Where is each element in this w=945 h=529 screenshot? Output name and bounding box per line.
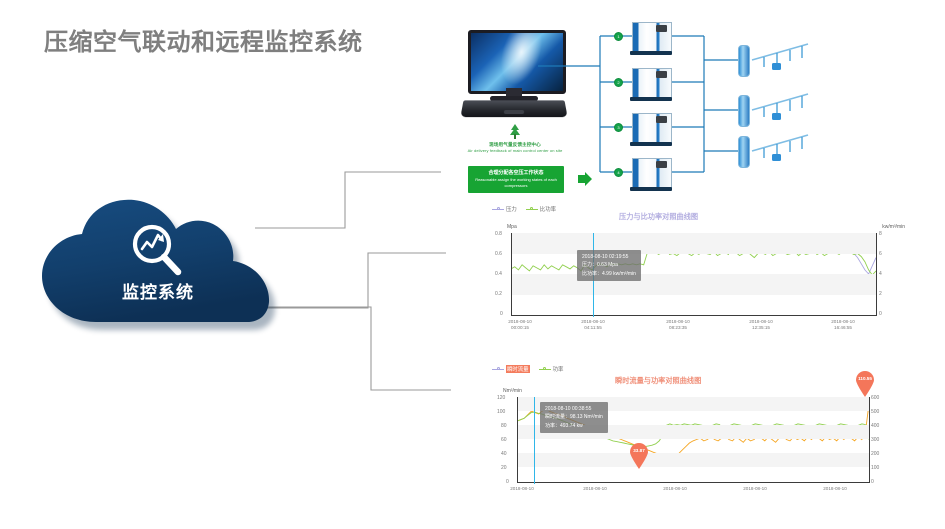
pressure-y-axis-unit: Mpa — [507, 224, 517, 230]
y-tick: 40 — [501, 451, 507, 457]
tooltip-power: 功率：493.74 kw — [545, 422, 603, 430]
page-title: 压缩空气联动和远程监控系统 — [44, 22, 363, 57]
legend-label: 瞬时流量 — [506, 365, 530, 373]
flow-chart-legend[interactable]: 瞬时流量 功率 — [492, 365, 563, 373]
pressure-chart-title: 压力与比功率对照曲线图 — [619, 212, 698, 222]
legend-marker-icon — [492, 367, 504, 372]
flow-chart-tooltip: 2018-08-10 00:38:55 瞬时流量：98.13 Nm³/min 功… — [540, 402, 608, 433]
x-tick: 2018-08-10 16:46:55 — [812, 319, 874, 331]
tooltip-specific-power: 比功率：4.99 kw/m³/min — [582, 270, 636, 278]
pressure-plot-area[interactable] — [511, 233, 876, 315]
cloud-monitoring-system[interactable]: 监控系统 — [38, 196, 288, 336]
pressure-chart-legend[interactable]: 压力 比功率 — [492, 205, 556, 213]
tooltip-time: 2018-08-10 00:38:55 — [545, 405, 603, 413]
distribution-line — [750, 125, 812, 167]
tooltip-instant-flow: 瞬时流量：98.13 Nm³/min — [545, 413, 603, 421]
flow-max-marker: 110.55 — [855, 371, 875, 397]
y-tick: 120 — [497, 395, 505, 401]
flow-min-marker: 33.87 — [629, 443, 649, 469]
compressor-unit — [632, 158, 670, 191]
y2-tick: 200 — [871, 451, 879, 457]
y-tick: 20 — [501, 465, 507, 471]
magnifier-chart-icon — [126, 220, 190, 284]
legend-label: 压力 — [506, 205, 517, 213]
cloud-label: 监控系统 — [38, 278, 278, 303]
air-tank — [738, 45, 750, 77]
pressure-y2-axis-unit: kw/m³/min — [882, 224, 905, 230]
flow-chart-panel: 瞬时流量 功率 瞬时流量与功率对照曲线图 Nm³/min 120 100 80 … — [487, 362, 907, 529]
flow-y-axis-unit: Nm³/min — [503, 388, 522, 394]
node-indicator: 4 — [614, 168, 623, 177]
legend-marker-icon — [526, 207, 538, 212]
y-tick: 100 — [497, 409, 505, 415]
legend-item-power[interactable]: 功率 — [539, 365, 564, 373]
x-tick: 2018-08-10 — [565, 486, 625, 492]
flow-min-marker-label: 33.87 — [629, 448, 649, 453]
x-tick: 2018-08-10 08:23:35 — [647, 319, 709, 331]
y-tick: 60 — [501, 437, 507, 443]
slide-canvas: 压缩空气联动和远程监控系统 — [0, 0, 945, 529]
tooltip-pressure: 压力：0.63 Mpa — [582, 261, 636, 269]
x-tick: 2018-08-10 — [492, 486, 552, 492]
y2-tick: 0 — [879, 311, 882, 317]
pressure-chart-panel: 压力 比功率 压力与比功率对照曲线图 Mpa kw/m³/min 0.8 0.6… — [487, 200, 907, 340]
tooltip-time: 2018-08-10 02:19:55 — [582, 253, 636, 261]
y2-tick: 400 — [871, 423, 879, 429]
y2-tick: 2 — [879, 291, 882, 297]
node-indicator: 2 — [614, 78, 623, 87]
y-tick: 0.8 — [495, 231, 502, 237]
y2-tick: 8 — [879, 231, 882, 237]
y-tick: 0.4 — [495, 271, 502, 277]
flow-chart-cursor — [534, 397, 535, 484]
distribution-line — [750, 84, 812, 126]
system-diagram-panel: 现场用气量反馈主控中心 Air delivery feedback of mai… — [432, 20, 942, 205]
compressor-unit — [632, 68, 670, 101]
legend-label: 功率 — [553, 365, 564, 373]
x-tick: 2018-08-10 00:00:15 — [489, 319, 551, 331]
x-tick: 2018-08-10 12:35:15 — [730, 319, 792, 331]
flow-max-marker-label: 110.55 — [855, 376, 875, 381]
y2-tick: 6 — [879, 251, 882, 257]
legend-item-pressure[interactable]: 压力 — [492, 205, 517, 213]
x-tick: 2018-08-10 — [805, 486, 865, 492]
legend-marker-icon — [492, 207, 504, 212]
y-tick: 0.6 — [495, 251, 502, 257]
y2-tick: 4 — [879, 271, 882, 277]
y-tick: 80 — [501, 423, 507, 429]
x-tick: 2018-08-10 — [725, 486, 785, 492]
legend-marker-icon — [539, 367, 551, 372]
legend-item-specific-power[interactable]: 比功率 — [526, 205, 556, 213]
x-tick: 2018-08-10 04:11:55 — [562, 319, 624, 331]
air-tank — [738, 95, 750, 127]
flow-chart-title: 瞬时流量与功率对照曲线图 — [615, 376, 701, 386]
y2-tick: 100 — [871, 465, 879, 471]
y-tick: 0 — [506, 479, 509, 485]
y-tick: 0 — [500, 311, 503, 317]
y2-tick: 0 — [871, 479, 874, 485]
distribution-line — [750, 34, 812, 76]
x-tick: 2018-08-10 — [645, 486, 705, 492]
air-tank — [738, 136, 750, 168]
y2-tick: 300 — [871, 437, 879, 443]
y-tick: 0.2 — [495, 291, 502, 297]
node-indicator: 1 — [614, 32, 623, 41]
legend-item-instant-flow[interactable]: 瞬时流量 — [492, 365, 530, 373]
compressor-unit — [632, 113, 670, 146]
node-indicator: 3 — [614, 123, 623, 132]
compressor-unit — [632, 22, 670, 55]
pressure-chart-tooltip: 2018-08-10 02:19:55 压力：0.63 Mpa 比功率：4.99… — [577, 250, 641, 281]
y2-tick: 500 — [871, 409, 879, 415]
legend-label: 比功率 — [540, 205, 556, 213]
pipe-network — [432, 20, 942, 205]
